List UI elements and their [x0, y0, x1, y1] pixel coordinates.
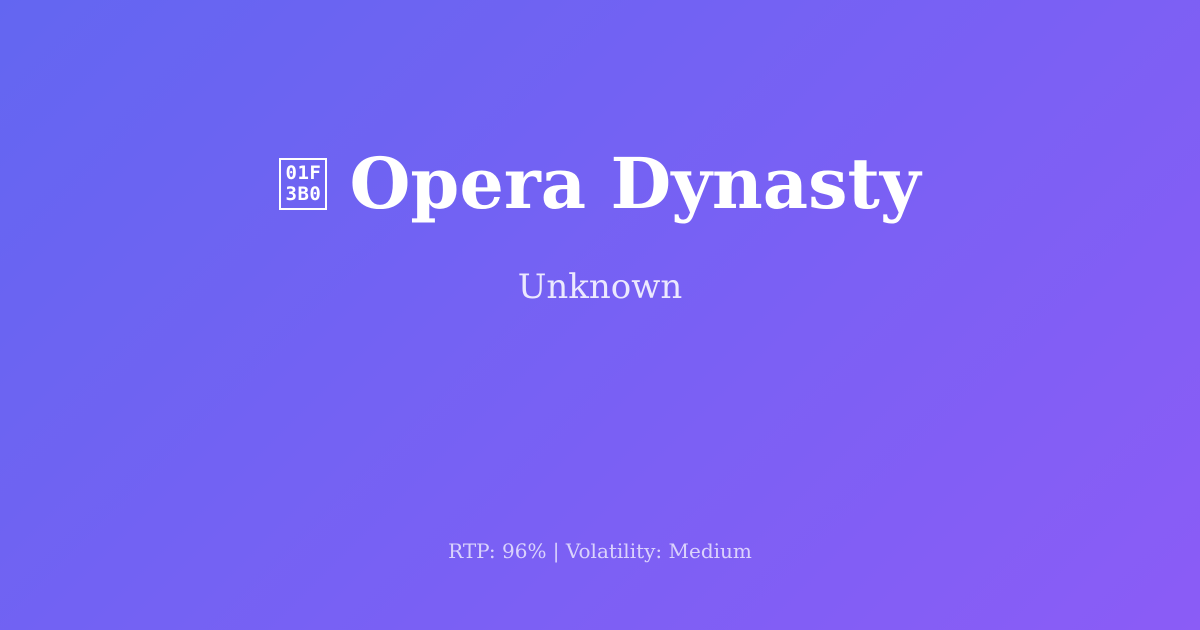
page-title: 01F 3B0 Opera Dynasty — [279, 147, 920, 221]
game-provider-subtitle: Unknown — [518, 221, 683, 308]
game-title-text: Opera Dynasty — [349, 147, 920, 221]
title-block: 01F 3B0 Opera Dynasty Unknown — [0, 0, 1200, 551]
og-preview-card: 01F 3B0 Opera Dynasty Unknown RTP: 96% |… — [0, 0, 1200, 630]
slot-machine-emoji-icon: 01F 3B0 — [279, 158, 327, 210]
tofu-codepoint-bottom: 3B0 — [286, 184, 322, 205]
tofu-codepoint-top: 01F — [286, 163, 322, 184]
